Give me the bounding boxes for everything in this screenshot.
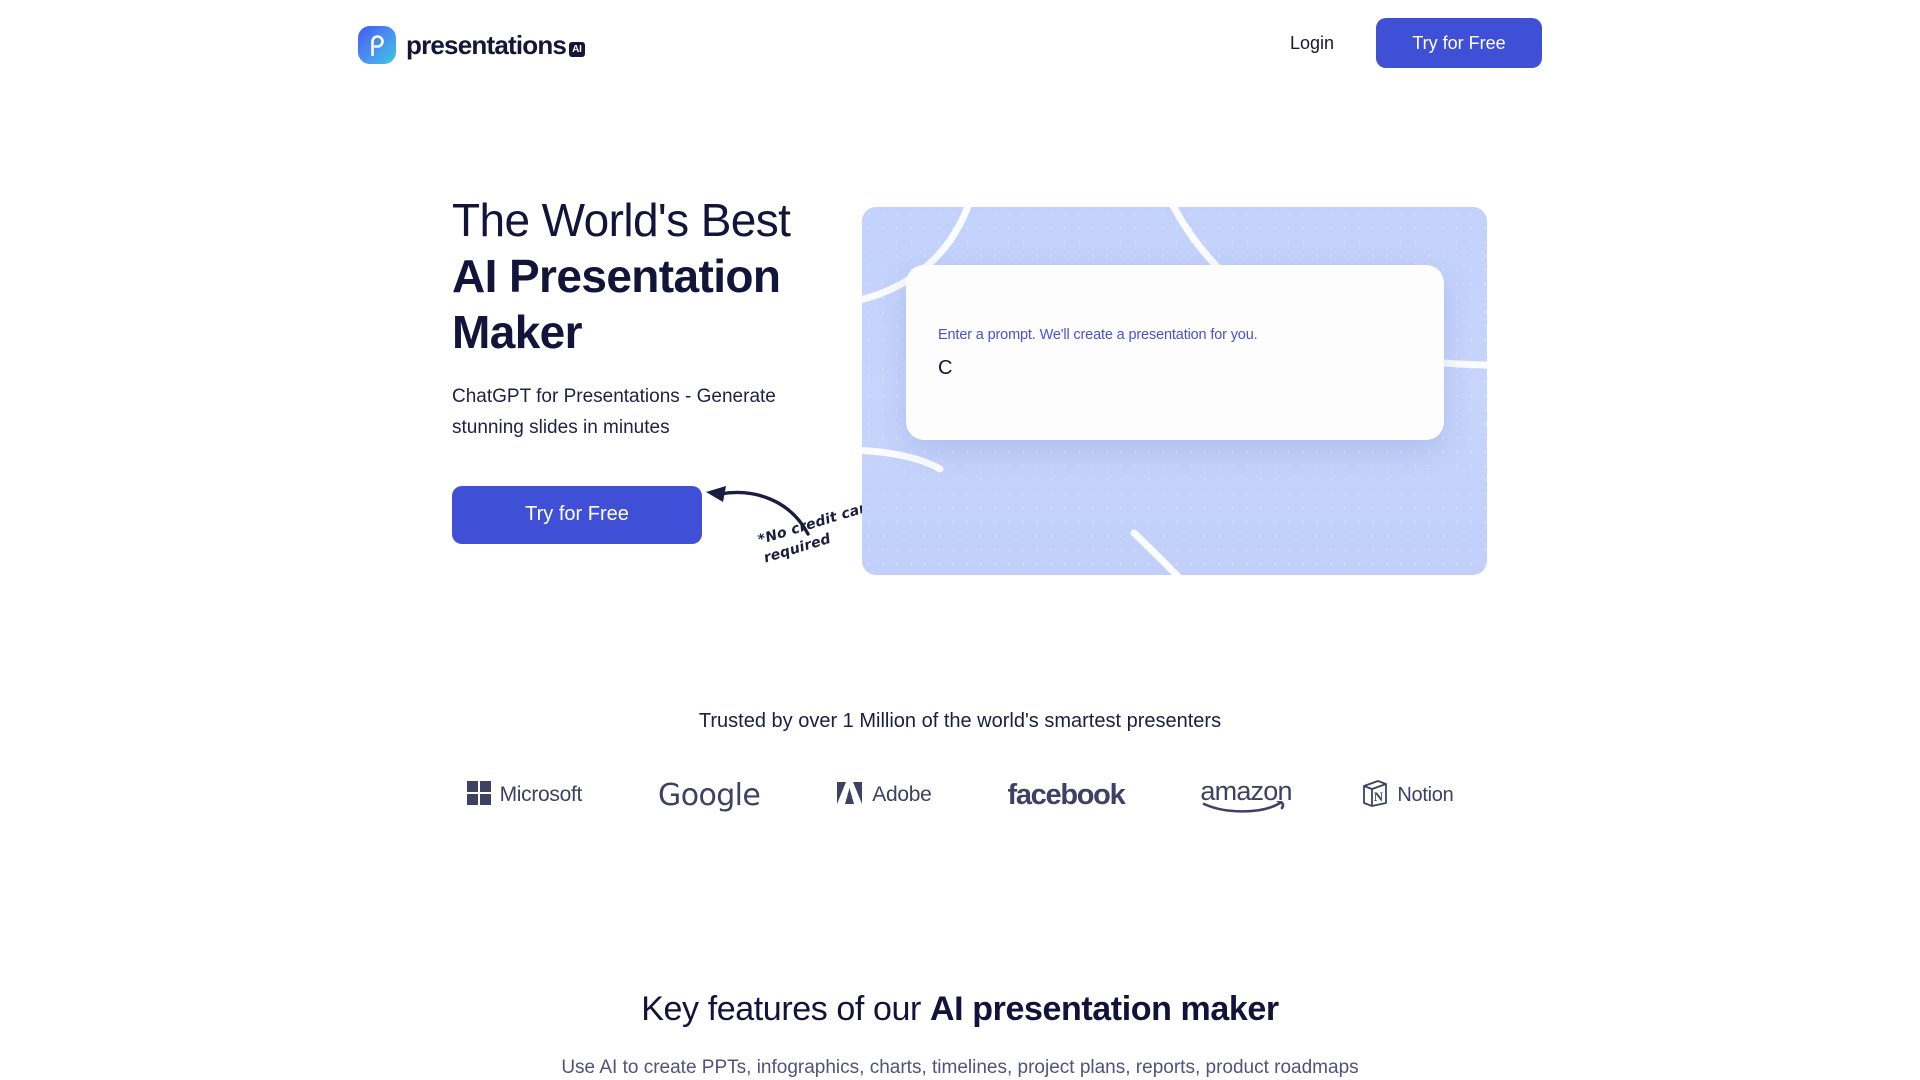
brand-logo-row: Microsoft Google Adobe facebook (0, 775, 1920, 815)
logo-google: Google (658, 775, 760, 815)
logo-label: Google (658, 778, 760, 813)
hero-subtitle: ChatGPT for Presentations - Generate stu… (452, 382, 792, 444)
hero-section: The World's Best AI Presentation Maker C… (0, 170, 1920, 600)
features-title-regular: Key features of our (641, 990, 930, 1028)
login-button[interactable]: Login (1276, 25, 1348, 62)
brand-ai-badge: AI (569, 42, 585, 57)
header-nav: Login Try for Free (1276, 18, 1542, 68)
adobe-a-icon (836, 781, 863, 810)
logo-amazon: amazon (1200, 775, 1286, 815)
brand-name: presentations (406, 32, 566, 58)
svg-text:N: N (1374, 789, 1384, 804)
landing-page: presentations AI Login Try for Free The … (0, 0, 1920, 1080)
logo-facebook: facebook (1007, 775, 1124, 815)
hero-visual-panel: Enter a prompt. We'll create a presentat… (862, 207, 1487, 575)
logo-label: Notion (1397, 784, 1453, 807)
logo-label: Microsoft (500, 783, 582, 807)
hero-title-line-3: Maker (452, 304, 872, 360)
brand-logo[interactable]: presentations AI (358, 26, 585, 64)
curved-arrow-icon (704, 480, 814, 540)
logo-label: facebook (1007, 779, 1124, 812)
features-title: Key features of our AI presentation make… (0, 990, 1920, 1029)
hero-copy: The World's Best AI Presentation Maker C… (452, 192, 872, 544)
features-title-bold: AI presentation maker (930, 990, 1279, 1028)
prompt-typed-text: C (938, 357, 952, 380)
logo-adobe: Adobe (836, 775, 931, 815)
logo-notion: N Notion (1362, 775, 1453, 815)
hero-title: The World's Best AI Presentation Maker (452, 192, 872, 360)
header-try-for-free-button[interactable]: Try for Free (1376, 18, 1542, 68)
hero-cta-row: Try for Free *No credit card required (452, 486, 872, 544)
trusted-by-section: Trusted by over 1 Million of the world's… (0, 710, 1920, 815)
prompt-card[interactable]: Enter a prompt. We'll create a presentat… (906, 265, 1444, 440)
trusted-by-title: Trusted by over 1 Million of the world's… (0, 710, 1920, 733)
hero-title-line-1: The World's Best (452, 192, 872, 248)
features-section: Key features of our AI presentation make… (0, 990, 1920, 1079)
prompt-placeholder-label: Enter a prompt. We'll create a presentat… (938, 327, 1258, 343)
features-subtitle: Use AI to create PPTs, infographics, cha… (0, 1057, 1920, 1079)
presentations-logo-icon (358, 26, 396, 64)
microsoft-squares-icon (467, 781, 491, 810)
amazon-smile-icon: amazon (1200, 778, 1286, 812)
hero-try-for-free-button[interactable]: Try for Free (452, 486, 702, 544)
hero-title-line-2: AI Presentation (452, 248, 872, 304)
logo-label: Adobe (872, 783, 931, 807)
logo-microsoft: Microsoft (467, 775, 582, 815)
notion-cube-icon: N (1362, 779, 1388, 812)
site-header: presentations AI Login Try for Free (0, 0, 1920, 98)
